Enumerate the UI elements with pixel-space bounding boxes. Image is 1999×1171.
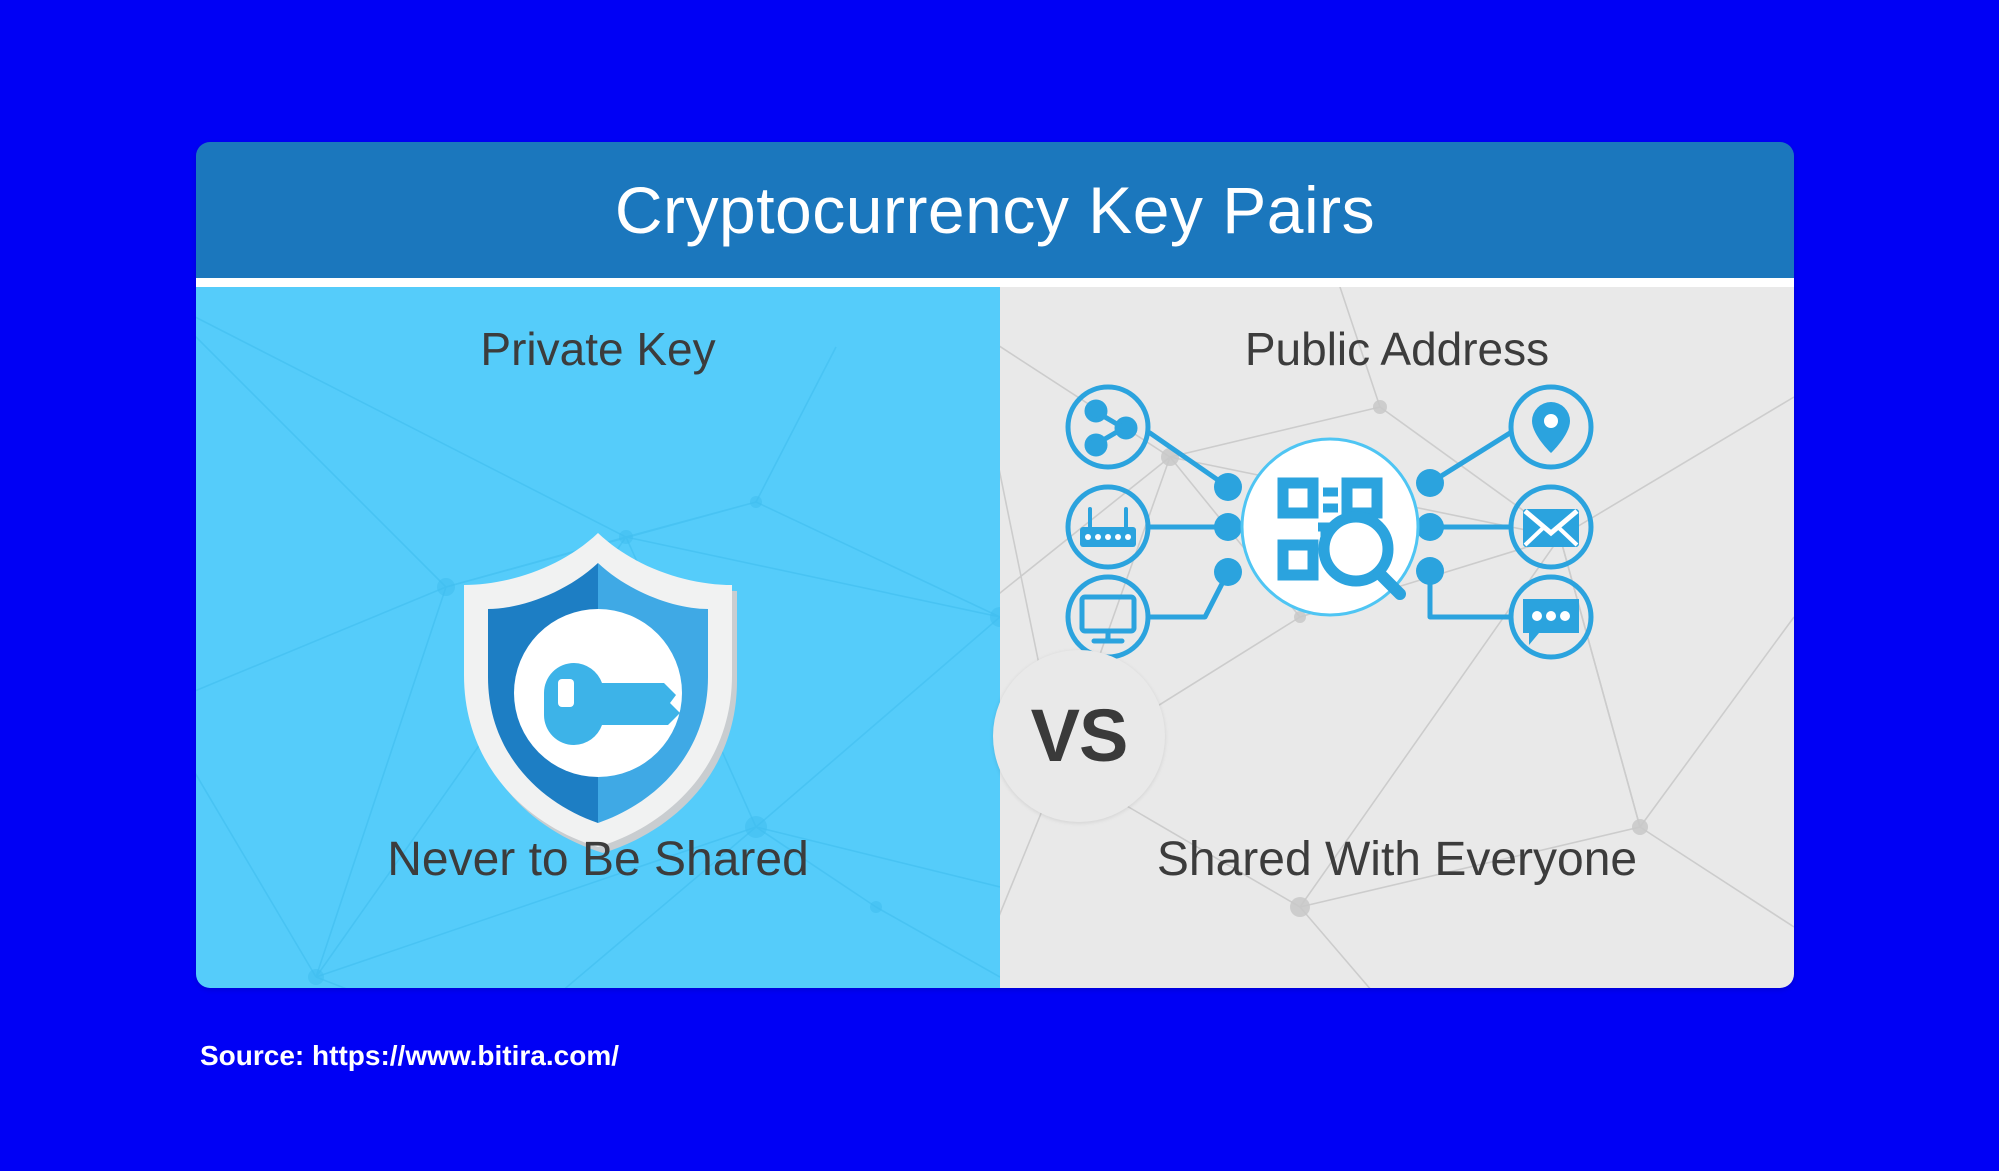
page-title: Cryptocurrency Key Pairs [615, 177, 1375, 243]
private-key-panel: Private Key [196, 287, 1000, 988]
shield-key-icon [448, 525, 748, 855]
header-divider-rule [196, 278, 1794, 287]
router-icon [1068, 487, 1148, 567]
private-key-title: Private Key [196, 322, 1000, 376]
card-header: Cryptocurrency Key Pairs [196, 142, 1794, 278]
share-network-icon [1068, 387, 1148, 467]
public-address-panel: Public Address [1000, 287, 1794, 988]
chat-bubble-icon [1511, 577, 1591, 657]
infographic-card: Cryptocurrency Key Pairs [196, 142, 1794, 988]
map-pin-icon [1511, 387, 1591, 467]
infographic-stage: Cryptocurrency Key Pairs [0, 0, 1999, 1171]
comparison-panels: Private Key [196, 287, 1794, 988]
source-caption: Source: https://www.bitira.com/ [200, 1040, 619, 1072]
monitor-icon [1068, 577, 1148, 657]
qr-code-scan-icon [1242, 439, 1418, 615]
envelope-icon [1511, 487, 1591, 567]
public-address-caption: Shared With Everyone [1000, 832, 1794, 887]
vs-badge: VS [993, 650, 1165, 822]
shield-key-glyph [448, 525, 748, 855]
vs-label: VS [1031, 699, 1128, 773]
private-key-caption: Never to Be Shared [196, 832, 1000, 887]
